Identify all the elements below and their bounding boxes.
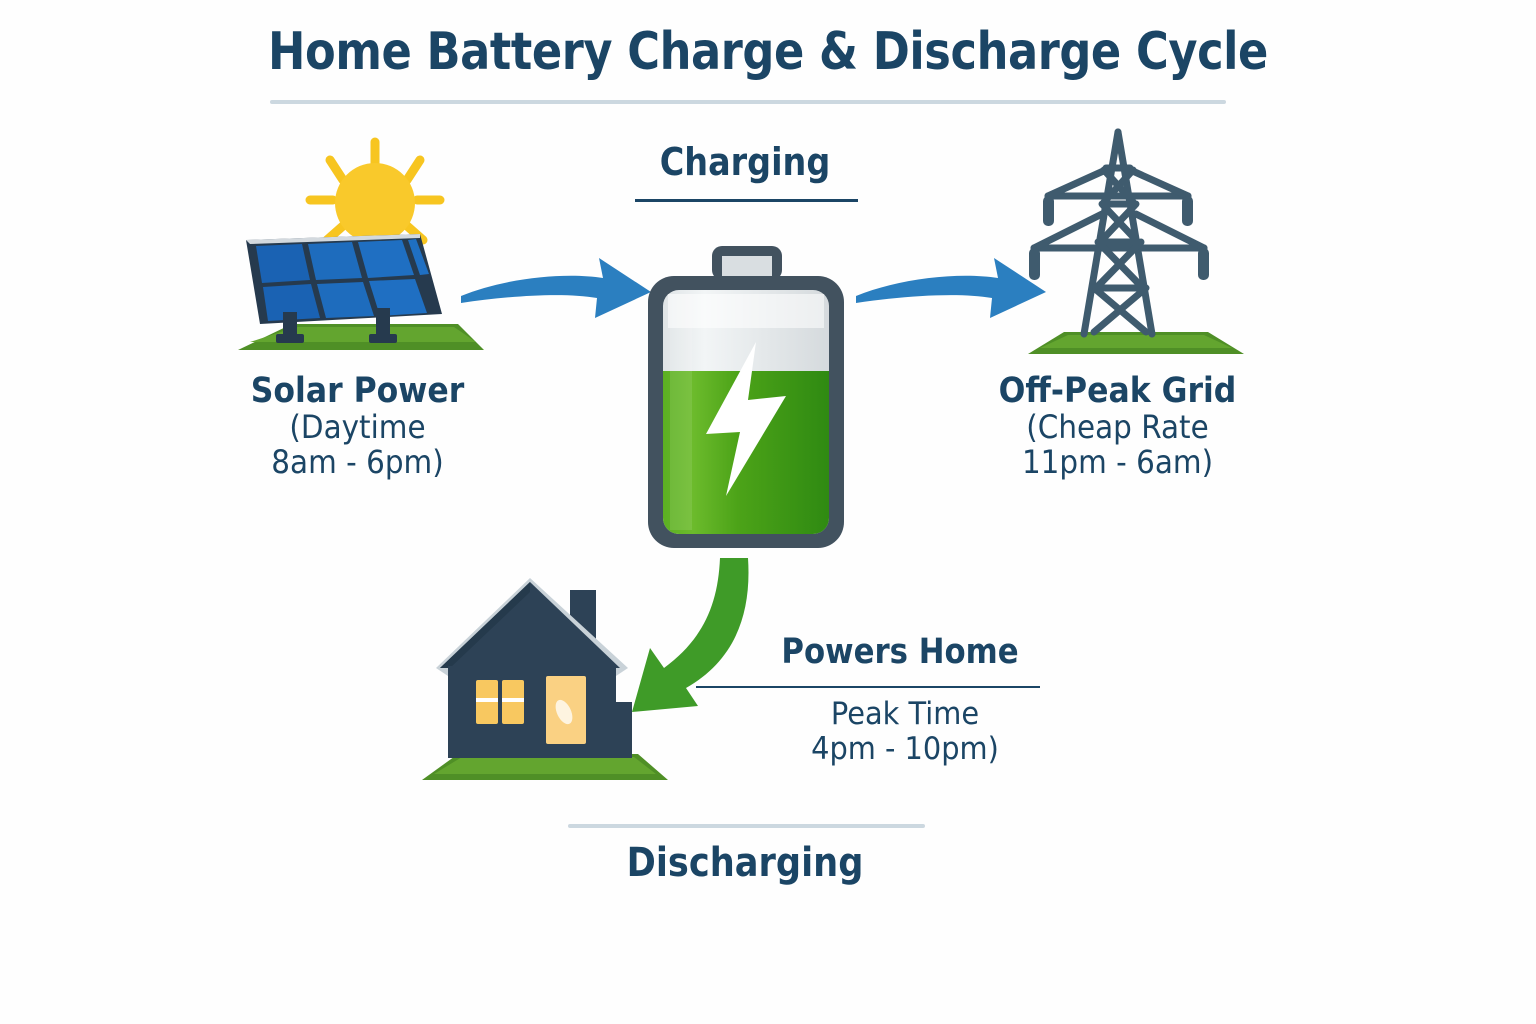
transmission-tower-icon bbox=[1018, 118, 1254, 360]
solar-caption-line3: 8am - 6pm) bbox=[226, 445, 488, 480]
grid-caption-line2: (Cheap Rate bbox=[986, 410, 1248, 445]
powers-home-underline bbox=[696, 686, 1040, 688]
grid-caption-line1: Off-Peak Grid bbox=[989, 372, 1246, 410]
title-divider bbox=[270, 100, 1226, 104]
page-title: Home Battery Charge & Discharge Cycle bbox=[108, 22, 1429, 82]
discharging-divider bbox=[568, 824, 925, 828]
solar-caption: Solar Power (Daytime 8am - 6pm) bbox=[215, 372, 500, 480]
solar-panel-with-sun-icon bbox=[230, 128, 490, 360]
battery-charging-icon bbox=[630, 238, 862, 560]
grid-caption-line3: 11pm - 6am) bbox=[986, 445, 1248, 480]
curved-arrow-down-left-icon bbox=[620, 540, 820, 720]
peak-time-line2: 4pm - 10pm) bbox=[770, 732, 1040, 767]
charging-underline bbox=[635, 199, 858, 202]
charging-section-label: Charging bbox=[635, 140, 855, 184]
grid-caption: Off-Peak Grid (Cheap Rate 11pm - 6am) bbox=[975, 372, 1260, 480]
infographic-canvas: Home Battery Charge & Discharge Cycle Ch… bbox=[0, 0, 1536, 1024]
solar-caption-line1: Solar Power bbox=[229, 372, 486, 410]
solar-caption-line2: (Daytime bbox=[226, 410, 488, 445]
discharging-section-label: Discharging bbox=[591, 840, 899, 886]
curved-arrow-right-icon bbox=[455, 248, 655, 338]
